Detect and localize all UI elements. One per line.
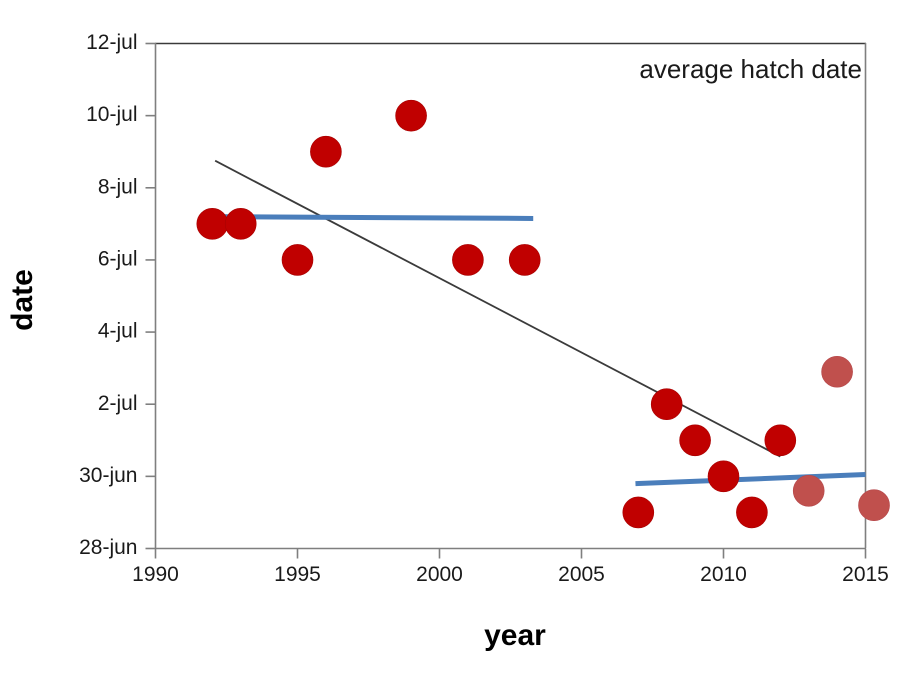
data-point <box>651 389 682 420</box>
y-tick-label: 6-jul <box>98 247 138 270</box>
data-point <box>765 425 796 456</box>
x-tick-label: 2005 <box>558 563 605 586</box>
x-tick-label: 2015 <box>842 563 889 586</box>
y-axis-ticks <box>146 44 156 549</box>
trend-line-early-period-mean <box>212 217 533 219</box>
data-point <box>793 475 824 506</box>
data-point <box>859 490 890 521</box>
x-axis-ticks <box>156 549 866 559</box>
data-point <box>736 497 767 528</box>
scatter-plot: 12-jul10-jul8-jul6-jul4-jul2-jul30-jun28… <box>0 0 900 675</box>
data-point <box>197 208 228 239</box>
y-tick-label: 4-jul <box>98 320 138 343</box>
data-point <box>680 425 711 456</box>
data-point <box>282 244 313 275</box>
y-tick-label: 2-jul <box>98 392 138 415</box>
data-point <box>310 136 341 167</box>
trend-line-overall-regression <box>215 161 780 457</box>
trend-line-late-period-mean <box>635 475 865 484</box>
data-point <box>396 100 427 131</box>
data-point <box>708 461 739 492</box>
data-point <box>225 208 256 239</box>
x-axis-tick-labels: 199019952000200520102015 <box>132 563 889 586</box>
y-tick-label: 28-jun <box>79 536 137 559</box>
data-point-markers <box>197 100 890 528</box>
x-tick-label: 2000 <box>416 563 463 586</box>
x-tick-label: 1995 <box>274 563 321 586</box>
data-point <box>623 497 654 528</box>
data-point <box>452 244 483 275</box>
y-tick-label: 8-jul <box>98 175 138 198</box>
plot-frame <box>155 43 866 549</box>
x-tick-label: 2010 <box>700 563 747 586</box>
y-tick-label: 30-jun <box>79 464 137 487</box>
y-tick-label: 12-jul <box>86 31 137 54</box>
x-axis-title: year <box>484 619 546 652</box>
data-point <box>822 356 853 387</box>
chart-container: 12-jul10-jul8-jul6-jul4-jul2-jul30-jun28… <box>0 0 900 675</box>
x-tick-label: 1990 <box>132 563 179 586</box>
y-axis-tick-labels: 12-jul10-jul8-jul6-jul4-jul2-jul30-jun28… <box>79 31 137 559</box>
chart-title: average hatch date <box>639 54 862 84</box>
data-point <box>509 244 540 275</box>
y-axis-title: date <box>6 269 39 331</box>
y-tick-label: 10-jul <box>86 103 137 126</box>
